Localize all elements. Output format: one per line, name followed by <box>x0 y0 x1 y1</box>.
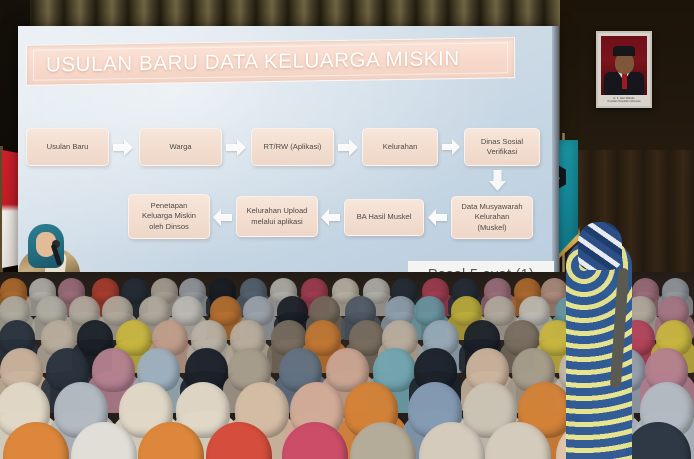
flow-box-label: Usulan Baru <box>47 142 89 152</box>
flow-box-label-line2: Kelurahan <box>475 212 510 222</box>
flow-box-rt-rw: RT/RW (Aplikasi) <box>251 128 334 166</box>
standing-attendee-hijab <box>578 222 622 270</box>
flow-arrow-right-4 <box>442 139 460 155</box>
flow-box-label: BA Hasil Muskel <box>357 212 412 222</box>
audience-member-head <box>92 348 135 392</box>
portrait-caption-line2: Presiden Republik Indonesia <box>607 100 640 103</box>
flow-arrow-down <box>489 170 506 191</box>
flow-box-label-line2: Keluarga Miskin <box>142 211 196 221</box>
slide-title: USULAN BARU DATA KELUARGA MISKIN <box>34 47 460 78</box>
flow-box-label-line1: Kelurahan Upload <box>247 206 308 216</box>
flow-box-dinas-sosial: Dinas Sosial Verifikasi <box>464 128 540 166</box>
framed-portrait: H. Ir. Joko Widodo Presiden Republik Ind… <box>596 31 652 108</box>
flow-box-warga: Warga <box>139 128 222 166</box>
portrait-image <box>601 36 647 95</box>
slide-title-inner-border: USULAN BARU DATA KELUARGA MISKIN <box>33 42 508 80</box>
portrait-tie <box>622 73 627 89</box>
flow-arrow-right-3 <box>338 139 358 156</box>
flow-box-label: Warga <box>169 142 191 152</box>
flow-arrow-right-2 <box>226 139 246 156</box>
flow-box-label-line1: Penetapan <box>151 201 188 211</box>
flow-box-kelurahan: Kelurahan <box>362 128 438 166</box>
portrait-peci-cap <box>613 46 635 56</box>
portrait-caption: H. Ir. Joko Widodo Presiden Republik Ind… <box>601 95 647 105</box>
flow-box-label-line1: Dinas Sosial <box>481 137 523 147</box>
flow-box-penetapan-keluarga-miskin: Penetapan Keluarga Miskin oleh Dinsos <box>128 194 210 239</box>
presentation-hall-photo: H. Ir. Joko Widodo Presiden Republik Ind… <box>0 0 694 459</box>
flow-box-usulan-baru: Usulan Baru <box>26 128 109 166</box>
flow-box-label: RT/RW (Aplikasi) <box>264 142 322 152</box>
flow-arrow-left-1 <box>428 209 447 226</box>
screen-right-edge <box>552 26 559 288</box>
flow-box-label-line3: (Muskel) <box>477 223 506 233</box>
flow-arrow-left-2 <box>321 209 340 226</box>
flow-arrow-right-1 <box>113 139 133 156</box>
flow-box-label-line2: melalui aplikasi <box>251 217 303 227</box>
flow-arrow-left-3 <box>213 209 232 226</box>
flow-box-data-musyawarah: Data Musyawarah Kelurahan (Muskel) <box>451 196 533 239</box>
flow-box-label-line3: oleh Dinsos <box>149 222 189 232</box>
slide-title-banner: USULAN BARU DATA KELUARGA MISKIN <box>26 37 515 86</box>
flow-box-ba-hasil-muskel: BA Hasil Muskel <box>344 199 424 236</box>
flow-box-kelurahan-upload: Kelurahan Upload melalui aplikasi <box>236 196 318 237</box>
flow-box-label: Kelurahan <box>383 142 418 152</box>
flow-box-label-line2: Verifikasi <box>487 147 517 157</box>
flow-box-label-line1: Data Musyawarah <box>461 202 522 212</box>
